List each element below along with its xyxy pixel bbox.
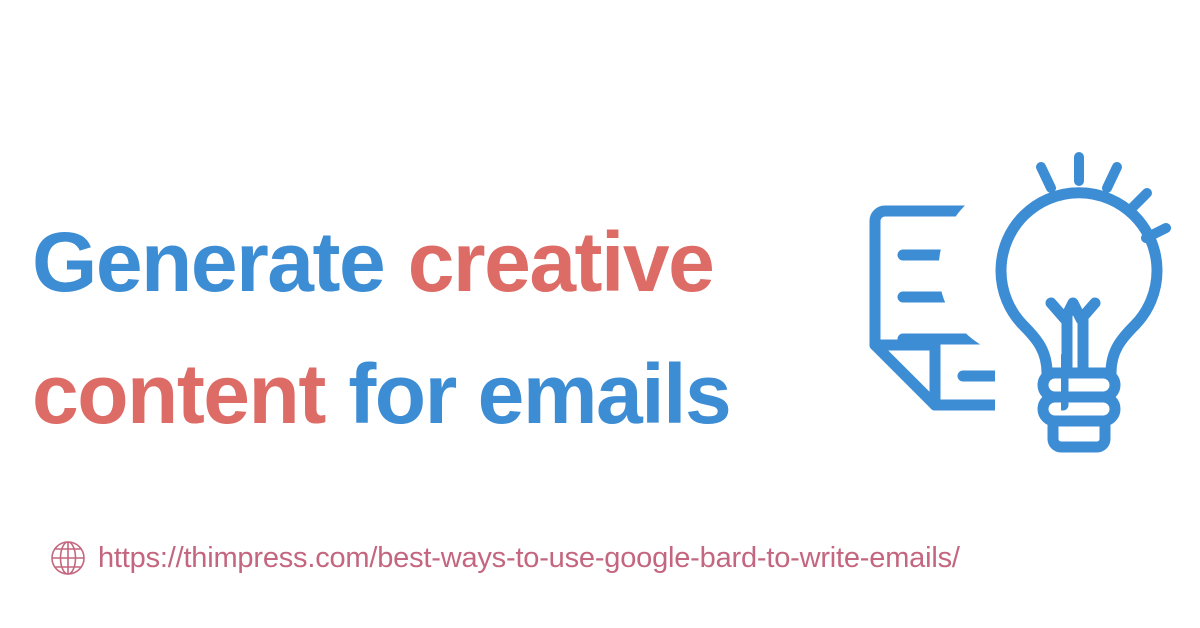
headline-word-generate: Generate xyxy=(32,215,384,309)
og-card-root: Generatecreative contentfor emails xyxy=(0,0,1200,628)
url-footer[interactable]: https://thimpress.com/best-ways-to-use-g… xyxy=(48,538,960,578)
headline-word-content: content xyxy=(32,347,325,441)
headline-word-for-emails: for emails xyxy=(348,347,730,441)
document-with-lightbulb-illustration xyxy=(855,145,1185,475)
url-text[interactable]: https://thimpress.com/best-ways-to-use-g… xyxy=(98,544,960,573)
headline: Generatecreative contentfor emails xyxy=(32,196,872,460)
headline-word-creative: creative xyxy=(408,215,714,309)
globe-icon xyxy=(48,538,88,578)
lightbulb-ray-right-1 xyxy=(1107,167,1117,188)
headline-line-1: Generatecreative xyxy=(32,196,872,328)
lightbulb-ray-right-2 xyxy=(1131,193,1147,209)
headline-line-2: contentfor emails xyxy=(32,328,872,460)
